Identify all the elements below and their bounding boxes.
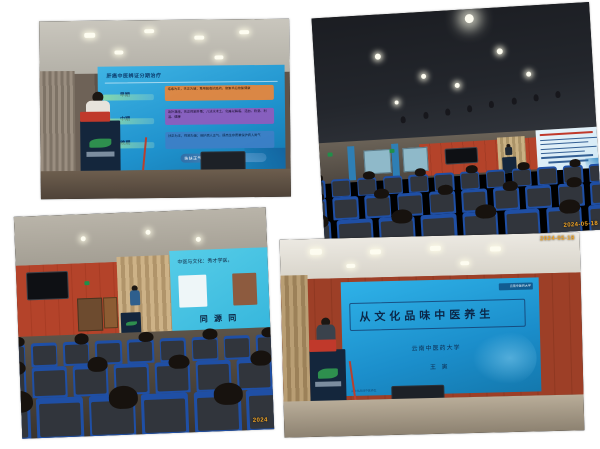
stage-door	[77, 298, 103, 332]
photo-timestamp: 2024-05-18	[540, 235, 575, 242]
slide-title: 肝癌中医辨证分期治疗	[106, 72, 161, 80]
wall-monitor	[26, 270, 69, 300]
slide-footer-note: 从文化品味中医养生	[351, 388, 376, 393]
slide-affiliation: 云南中医药大学	[411, 342, 460, 352]
projection-screen: 云南中医药大学 从文化品味中医养生 云南中医药大学 王 寅 从文化品味中医养生	[341, 277, 542, 397]
seat	[408, 174, 428, 193]
wall-monitor	[445, 147, 478, 165]
presenter-body	[130, 290, 141, 305]
ceiling-lamp	[145, 229, 150, 234]
stage-floor	[284, 395, 585, 438]
seat	[63, 341, 90, 366]
seat	[332, 196, 359, 220]
seat	[141, 392, 189, 436]
presenter-body	[505, 147, 512, 155]
ceiling-lamp	[460, 261, 469, 265]
seat	[36, 396, 84, 438]
seat	[31, 342, 58, 367]
stage-spotlight	[555, 90, 560, 97]
photo-top-right-scene: 2024-05-18	[311, 2, 600, 246]
audience-head	[363, 171, 375, 180]
projection-screen: 中医与文化：秀才学医， 同 源 同	[169, 247, 273, 335]
podium-nameplate	[315, 381, 341, 387]
ceiling-lamp	[239, 30, 249, 34]
seat	[460, 171, 480, 190]
stage-spotlight	[467, 105, 472, 112]
exit-sign	[328, 152, 333, 156]
audience-head	[517, 162, 529, 170]
ceiling-lamp	[194, 36, 204, 40]
photo-bottom-right: 云南中医药大学 从文化品味中医养生 云南中医药大学 王 寅 从文化品味中医养生	[280, 232, 585, 437]
slide-divider	[105, 81, 278, 84]
photo-bottom-right-scene: 云南中医药大学 从文化品味中医养生 云南中医药大学 王 寅 从文化品味中医养生	[280, 232, 585, 437]
podium-leaf-logo	[126, 321, 137, 326]
seat	[589, 163, 600, 182]
stage-spotlight	[423, 112, 428, 119]
projection-screen: 肝癌中医辨证分期治疗 早期 结毒为主，扶正为辅；重用解毒抗癌药，修复术后恢复健康…	[97, 65, 286, 170]
stage-spotlight	[445, 108, 450, 115]
stage-spotlight	[533, 94, 538, 101]
seat	[588, 203, 600, 235]
audience-head	[214, 382, 244, 405]
screen-corner-accent	[244, 148, 285, 169]
ceiling-lamp	[421, 73, 426, 78]
seat	[590, 181, 600, 205]
stage-floor	[41, 168, 291, 199]
podium-red-panel	[80, 111, 110, 122]
seat	[246, 388, 274, 432]
slide-line-1: 中医与文化：秀才学医，	[177, 257, 232, 266]
audience-head	[567, 177, 582, 187]
slide-illustration-right	[232, 273, 257, 306]
audience-head	[502, 180, 517, 191]
ceiling-lamp	[84, 33, 95, 38]
ceiling-lamp	[430, 246, 441, 251]
university-logo-text: 云南中医药大学	[510, 284, 531, 289]
audience-head	[108, 385, 138, 409]
slide-title: 从文化品味中医养生	[359, 306, 494, 325]
audience-head	[374, 188, 389, 199]
exit-sign	[84, 281, 89, 285]
ceiling-lamp	[214, 55, 223, 59]
podium-leaf-logo	[318, 369, 338, 379]
photo-timestamp: 2024	[253, 417, 268, 424]
photo-bottom-left-scene: 中医与文化：秀才学医， 同 源 同	[14, 207, 274, 439]
slide-heading-line	[540, 131, 593, 136]
podium	[80, 120, 121, 176]
seat	[331, 178, 351, 197]
ceiling-lamp	[394, 100, 398, 104]
seat	[32, 366, 68, 398]
ceiling-lamp	[464, 13, 474, 23]
seat	[127, 338, 154, 363]
slide-body-line	[540, 141, 588, 145]
ceiling-lamp	[346, 264, 355, 268]
seat	[525, 185, 552, 209]
slide-illustration-left	[178, 275, 207, 308]
slide-body-line	[540, 146, 596, 151]
podium-red-panel	[309, 339, 336, 352]
side-curtain	[40, 71, 76, 178]
ceiling-lamp	[80, 236, 85, 241]
photo-bottom-left: 中医与文化：秀才学医， 同 源 同	[14, 207, 274, 439]
audience-head	[466, 165, 478, 174]
audience-head	[438, 185, 453, 195]
audience-head	[250, 350, 271, 366]
audience-head	[569, 159, 581, 167]
photo-collage: 肝癌中医辨证分期治疗 早期 结毒为主，扶正为辅；重用解毒抗癌药，修复术后恢复健康…	[0, 0, 600, 449]
stage-text-middle: 攻补兼施，扶正祠邪并重；八法水术土、化瘗以解毒、活血、软坚、利湿、健脾	[168, 109, 271, 119]
slide-line-2: 同 源 同	[200, 312, 239, 324]
side-curtain	[280, 275, 310, 406]
seat	[191, 336, 218, 361]
photo-top-left: 肝癌中医辨证分期治疗 早期 结毒为主，扶正为辅；重用解毒抗癌药，修复术后恢复健康…	[39, 19, 291, 200]
exit-sign	[389, 148, 394, 152]
ceiling-lamp	[144, 29, 154, 33]
photo-top-left-scene: 肝癌中医辨证分期治疗 早期 结毒为主，扶正为辅；重用解毒抗癌药，修复术后恢复健康…	[39, 19, 291, 200]
slide-body-line	[541, 150, 585, 154]
slide-body-line	[540, 137, 597, 142]
stage-spotlight	[511, 98, 516, 105]
ceiling-lamp	[370, 249, 381, 254]
audience-head	[558, 199, 580, 214]
podium-nameplate	[86, 151, 115, 156]
slide-presenter-name: 王 寅	[430, 362, 450, 371]
ceiling-lamp	[310, 249, 322, 255]
podium	[309, 349, 346, 407]
ceiling-lamp	[114, 51, 123, 55]
photo-top-right: 2024-05-18	[311, 2, 600, 246]
slide-body-line	[548, 160, 588, 164]
ceiling-lamp	[490, 246, 501, 251]
podium-leaf-logo	[89, 139, 111, 148]
seat	[223, 334, 250, 359]
seat	[537, 166, 557, 185]
audience-head	[261, 327, 274, 338]
screen-watermark-dragon	[469, 330, 538, 387]
wall-panel	[103, 297, 119, 328]
